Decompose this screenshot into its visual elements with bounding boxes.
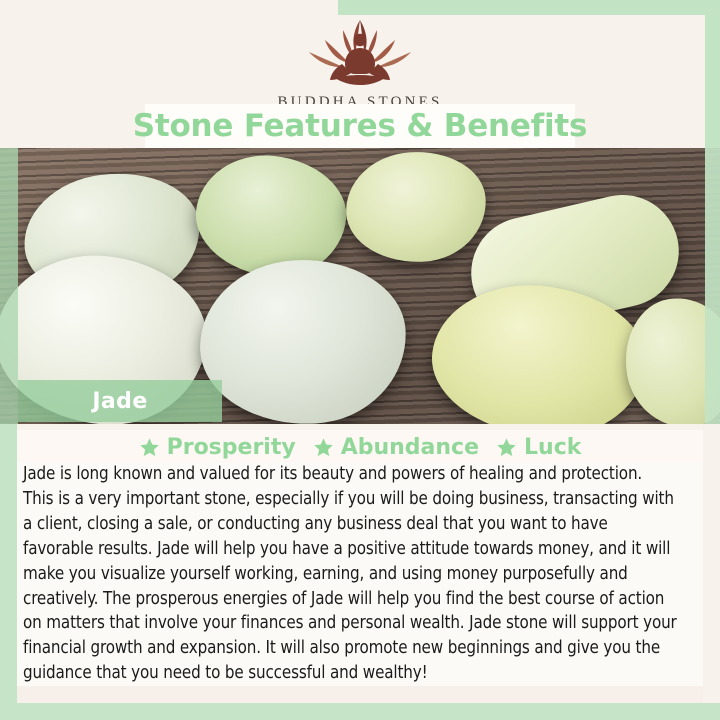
description-block: Jade is long known and valued for its be… xyxy=(17,462,703,686)
frame-bottom-bar xyxy=(0,703,720,720)
benefit-item-abundance: Abundance xyxy=(313,435,479,460)
frame-top-right-bar xyxy=(338,0,720,15)
benefit-label: Prosperity xyxy=(167,435,296,460)
brand-logo: BUDDHA STONES xyxy=(0,14,720,111)
star-icon xyxy=(139,437,160,458)
frame-left-bar xyxy=(0,424,17,720)
title-banner: Stone Features & Benefits xyxy=(145,104,575,148)
photo-right-green-overlay xyxy=(705,148,720,424)
benefit-item-prosperity: Prosperity xyxy=(139,435,296,460)
benefit-item-luck: Luck xyxy=(496,435,581,460)
bottom-cream-strip xyxy=(17,686,703,703)
stone-name-label: Jade xyxy=(92,389,147,414)
stone-caption-band: Jade xyxy=(18,380,222,422)
benefits-row: Prosperity Abundance Luck xyxy=(17,430,703,464)
star-icon xyxy=(496,437,517,458)
description-text: Jade is long known and valued for its be… xyxy=(23,462,677,686)
page-title: Stone Features & Benefits xyxy=(133,108,588,144)
benefit-label: Luck xyxy=(524,435,581,460)
benefit-label: Abundance xyxy=(341,435,479,460)
star-icon xyxy=(313,437,334,458)
stone-features-infographic: BUDDHA STONES Stone Features & Benefits … xyxy=(0,0,720,720)
photo-left-green-overlay xyxy=(0,148,18,424)
lotus-meditation-icon xyxy=(285,14,435,90)
